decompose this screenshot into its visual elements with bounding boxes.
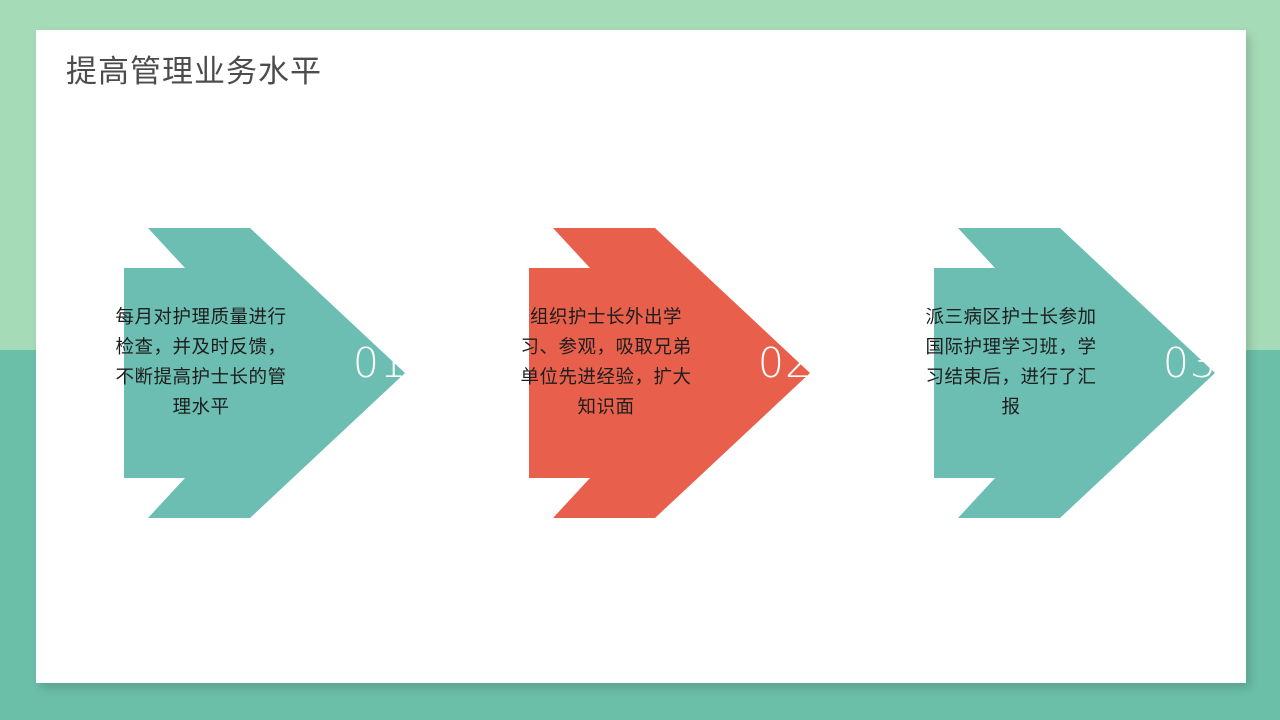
page-title: 提高管理业务水平 — [66, 52, 322, 92]
step-number-3: 03 — [1135, 340, 1245, 386]
step-description-2: 组织护士长外出学习、参观，吸取兄弟单位先进经验，扩大知识面 — [513, 303, 699, 423]
slide-canvas: 提高管理业务水平 01 每月对护理质量进行检查，并及时反馈，不断提高护士长的管理… — [0, 0, 1280, 720]
step-number-1: 01 — [325, 340, 435, 386]
step-description-1: 每月对护理质量进行检查，并及时反馈，不断提高护士长的管理水平 — [108, 303, 294, 423]
step-description-3: 派三病区护士长参加国际护理学习班，学习结束后，进行了汇报 — [918, 303, 1104, 423]
step-number-2: 02 — [730, 340, 840, 386]
